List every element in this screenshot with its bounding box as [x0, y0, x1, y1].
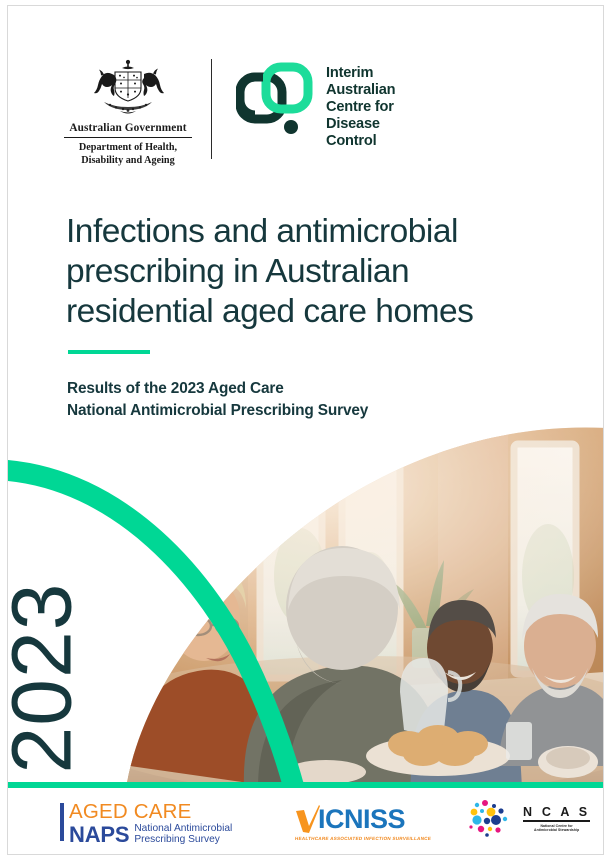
interim-acdc-interlocking-squares-icon [236, 61, 314, 139]
government-rule [64, 137, 192, 138]
icniss-logo: ICNISS HEALTHCARE ASSOCIATED INFECTION S… [295, 804, 431, 841]
cover-page: Australian Government Department of Heal… [7, 5, 604, 855]
naps-aged-care-text: AGED CARE [69, 802, 232, 823]
acdc-line-5: Control [326, 133, 395, 150]
acdc-line-3: Centre for [326, 99, 395, 116]
naps-subtitle-line-1: National Antimicrobial [134, 823, 232, 834]
naps-subtitle-line-2: Prescribing Survey [134, 834, 232, 845]
naps-accent-bar [60, 803, 64, 841]
ncas-rule [523, 820, 590, 821]
australian-government-logo: Australian Government Department of Heal… [62, 58, 194, 168]
icniss-wordmark: ICNISS [318, 806, 405, 833]
naps-acronym: NAPS [69, 824, 129, 846]
acdc-line-1: Interim [326, 65, 395, 82]
colored-dot-cluster-icon [468, 800, 516, 838]
ncas-acronym: N C A S [523, 806, 590, 819]
acdc-line-2: Australian [326, 82, 395, 99]
title-line-2: prescribing in Australian [66, 252, 566, 292]
department-name: Department of Health, Disability and Age… [62, 142, 194, 168]
hero-section [8, 426, 604, 788]
year-label: 2023 [7, 583, 83, 774]
naps-subtitle: National Antimicrobial Prescribing Surve… [134, 823, 232, 846]
naps-wordmark: AGED CARE NAPS National Antimicrobial Pr… [69, 802, 232, 846]
acdc-line-4: Disease [326, 116, 395, 133]
aged-care-naps-logo: AGED CARE NAPS National Antimicrobial Pr… [60, 802, 232, 846]
page-subtitle: Results of the 2023 Aged Care National A… [67, 378, 547, 423]
title-line-1: Infections and antimicrobial [66, 212, 566, 252]
department-line-1: Department of Health, [62, 142, 194, 155]
title-accent-rule [68, 350, 150, 354]
header-divider [211, 59, 212, 159]
interim-acdc-logo: Interim Australian Centre for Disease Co… [236, 61, 395, 150]
subtitle-line-2: National Antimicrobial Prescribing Surve… [67, 400, 547, 422]
footer-logo-bar: AGED CARE NAPS National Antimicrobial Pr… [8, 788, 604, 855]
ncas-subtitle-line-2: Antimicrobial Stewardship [534, 828, 579, 832]
subtitle-line-1: Results of the 2023 Aged Care [67, 378, 547, 400]
ncas-logo: N C A S National Centre for Antimicrobia… [468, 800, 590, 838]
icniss-tagline: HEALTHCARE ASSOCIATED INFECTION SURVEILL… [295, 836, 432, 841]
interim-acdc-wordmark: Interim Australian Centre for Disease Co… [326, 61, 395, 150]
hero-photo [8, 426, 604, 788]
page-title: Infections and antimicrobial prescribing… [66, 212, 566, 333]
government-name: Australian Government [62, 122, 194, 134]
title-line-3: residential aged care homes [66, 292, 566, 332]
department-line-2: Disability and Ageing [62, 155, 194, 168]
ncas-wordmark: N C A S National Centre for Antimicrobia… [523, 806, 590, 832]
ncas-subtitle: National Centre for Antimicrobial Stewar… [534, 824, 579, 833]
header-logo-bar: Australian Government Department of Heal… [8, 6, 603, 166]
australian-coat-of-arms-icon [74, 58, 182, 120]
hero-artwork [8, 426, 604, 788]
